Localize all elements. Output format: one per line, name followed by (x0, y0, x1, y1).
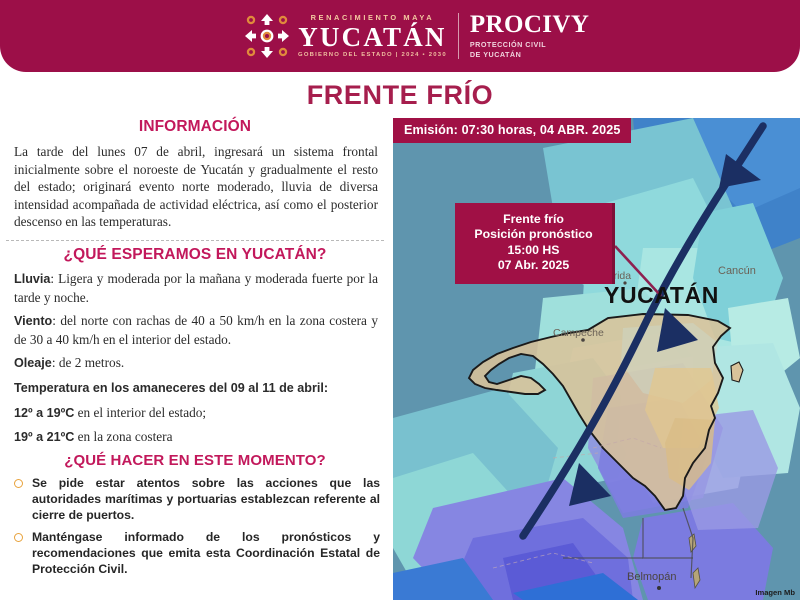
expect-item-oleaje: Oleaje: de 2 metros. (14, 354, 378, 373)
expect-value-viento: del norte con rachas de 40 a 50 km/h en … (14, 313, 378, 347)
action-bullet-list: Se pide estar atentos sobre las acciones… (0, 475, 390, 577)
government-logo: RENACIMIENTO MAYA YUCATÁN GOBIERNO DEL E… (243, 8, 589, 64)
expect-label-viento: Viento (14, 314, 52, 328)
temp-interior-desc: en el interior del estado; (78, 405, 207, 420)
logo-tagline-top: RENACIMIENTO MAYA (298, 13, 447, 23)
bullet-circle-icon (14, 533, 23, 542)
expect-label-temperatura: Temperatura en los amaneceres del 09 al … (14, 381, 328, 395)
maya-renacimiento-glyph-icon (243, 12, 291, 60)
page-title: FRENTE FRÍO (0, 80, 800, 111)
section-heading-informacion: INFORMACIÓN (0, 118, 390, 136)
callout-line-time: 15:00 HS (461, 243, 606, 258)
callout-line-title: Frente frío (461, 212, 606, 227)
informacion-paragraph: La tarde del lunes 07 de abril, ingresar… (14, 143, 378, 231)
section-heading-esperamos: ¿QUÉ ESPERAMOS EN YUCATÁN? (0, 246, 390, 264)
list-item: Manténgase informado de los pronósticos … (8, 529, 380, 577)
list-item: Se pide estar atentos sobre las acciones… (8, 475, 380, 523)
expect-item-temperatura: Temperatura en los amaneceres del 09 al … (14, 379, 378, 398)
procivy-name: PROCIVY (470, 12, 589, 38)
expect-value-lluvia: Ligera y moderada por la mañana y modera… (14, 271, 378, 305)
expect-item-viento: Viento: del norte con rachas de 40 a 50 … (14, 312, 378, 348)
procivy-subtitle-line2: DE YUCATÁN (470, 50, 589, 60)
temp-costera-desc: en la zona costera (78, 429, 173, 444)
action-bullet-text: Manténgase informado de los pronósticos … (32, 529, 380, 577)
infographic-page: RENACIMIENTO MAYA YUCATÁN GOBIERNO DEL E… (0, 0, 800, 600)
emission-banner: Emisión: 07:30 horas, 04 ABR. 2025 (393, 118, 631, 143)
expect-value-oleaje: de 2 metros. (59, 355, 124, 370)
temp-range-costera: 19º a 21ºC (14, 430, 74, 444)
expect-item-temp-costera: 19º a 21ºC en la zona costera (14, 428, 378, 447)
page-header: RENACIMIENTO MAYA YUCATÁN GOBIERNO DEL E… (0, 0, 800, 72)
expect-item-lluvia: Lluvia: Ligera y moderada por la mañana … (14, 270, 378, 306)
map-graphic (393, 118, 800, 600)
logo-state-name: YUCATÁN (298, 23, 447, 51)
callout-line-date: 07 Abr. 2025 (461, 258, 606, 273)
temp-range-interior: 12º a 19ºC (14, 406, 74, 420)
expect-label-lluvia: Lluvia (14, 272, 50, 286)
expect-item-temp-interior: 12º a 19ºC en el interior del estado; (14, 404, 378, 423)
yucatan-wordmark: RENACIMIENTO MAYA YUCATÁN GOBIERNO DEL E… (298, 13, 447, 60)
callout-line-subtitle: Posición pronóstico (461, 227, 606, 242)
logo-divider (458, 13, 459, 59)
action-bullet-text: Se pide estar atentos sobre las acciones… (32, 475, 380, 523)
bullet-circle-icon (14, 479, 23, 488)
logo-tagline-bottom: GOBIERNO DEL ESTADO | 2024 • 2030 (298, 51, 447, 60)
procivy-wordmark: PROCIVY PROTECCIÓN CIVIL DE YUCATÁN (470, 12, 589, 59)
front-position-callout: Frente frío Posición pronóstico 15:00 HS… (455, 203, 615, 284)
left-content-column: INFORMACIÓN La tarde del lunes 07 de abr… (0, 118, 390, 600)
expect-label-oleaje: Oleaje (14, 356, 52, 370)
procivy-subtitle-line1: PROTECCIÓN CIVIL (470, 40, 589, 50)
weather-map: Emisión: 07:30 horas, 04 ABR. 2025 Frent… (393, 118, 800, 600)
section-divider (6, 240, 384, 241)
section-heading-hacer: ¿QUÉ HACER EN ESTE MOMENTO? (0, 452, 390, 469)
